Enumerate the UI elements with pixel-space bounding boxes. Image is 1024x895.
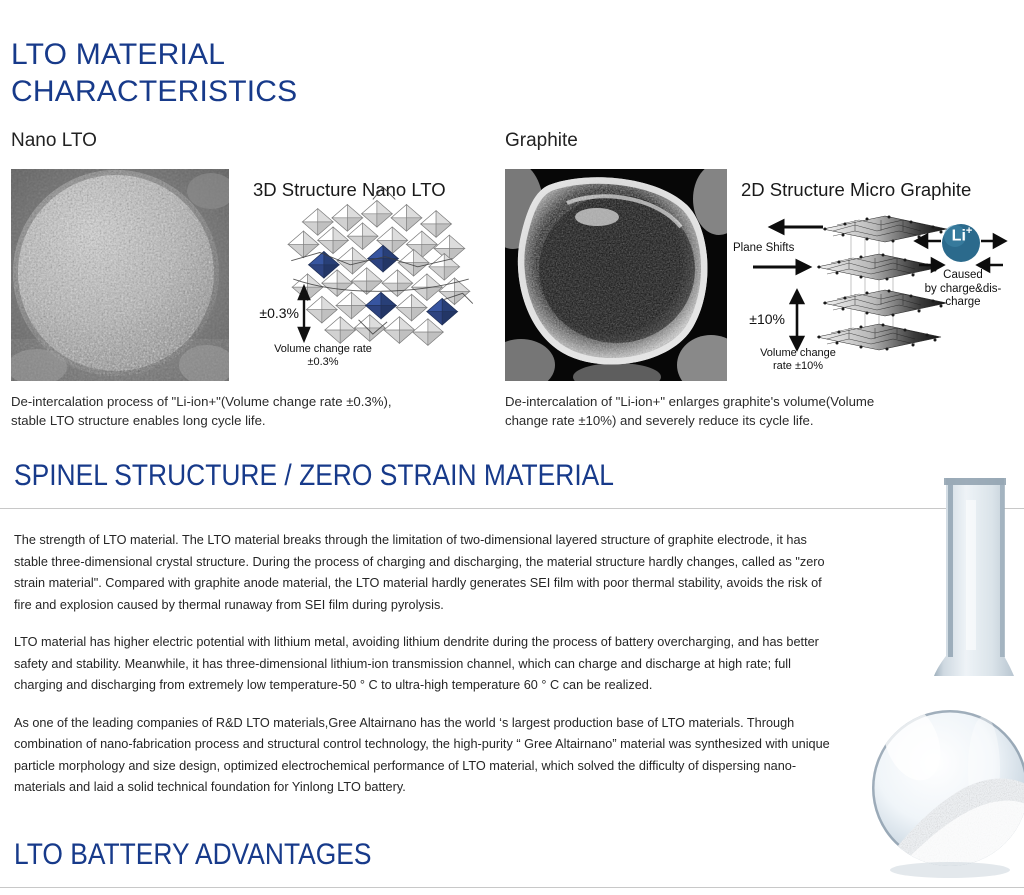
divider-below-advantages-title [0,887,1024,888]
plane-shifts-label: Plane Shifts [733,242,817,256]
section-label-graphite: Graphite [505,131,578,150]
diagram-3d-structure-nano-lto: 3D Structure Nano LTO [233,169,491,381]
li-ion-caption: Caused by charge&dis- charge [917,269,1009,310]
section-label-nano-lto: Nano LTO [11,131,97,150]
panel-nano-lto: 3D Structure Nano LTO [11,169,491,381]
caption-graphite: De-intercalation of "Li-ion+" enlarges g… [505,393,1005,430]
divider-below-spinel-title [0,508,1024,509]
volume-change-footnote-graphite: Volume change rate ±10% [731,347,865,373]
body-copy-spinel-structure: The strength of LTO material. The LTO ma… [14,529,876,798]
li-ion-badge-superscript: + [966,225,972,237]
page-title-lto-material-characteristics: LTO MATERIAL CHARACTERISTICS [11,37,297,110]
caption-nano-lto: De-intercalation process of "Li-ion+"(Vo… [11,393,491,430]
graphite-sem-micrograph [505,169,727,381]
page-root: LTO MATERIAL CHARACTERISTICS Nano LTO Gr… [0,0,1024,895]
section-title-spinel-structure: SPINEL STRUCTURE / ZERO STRAIN MATERIAL [14,461,614,491]
round-bottom-flask-with-white-powder [854,470,1024,895]
li-ion-badge-text: Li [952,227,966,244]
section-title-lto-battery-advantages: LTO BATTERY ADVANTAGES [14,840,371,870]
volume-change-arrow-value-nano: ±0.3% [243,305,299,322]
body-paragraph-1: The strength of LTO material. The LTO ma… [14,529,837,615]
li-ion-badge-label: Li+ [942,226,982,244]
diagram-2d-structure-micro-graphite: 2D Structure Micro Graphite [731,169,1013,381]
volume-change-arrow-value-graphite: ±10% [733,311,785,328]
body-paragraph-3: As one of the leading companies of R&D L… [14,712,837,798]
nano-lto-sem-micrograph [11,169,229,381]
body-paragraph-2: LTO material has higher electric potenti… [14,631,837,696]
panel-graphite: 2D Structure Micro Graphite [505,169,1013,381]
volume-change-footnote-nano: Volume change rate ±0.3% [233,343,413,369]
